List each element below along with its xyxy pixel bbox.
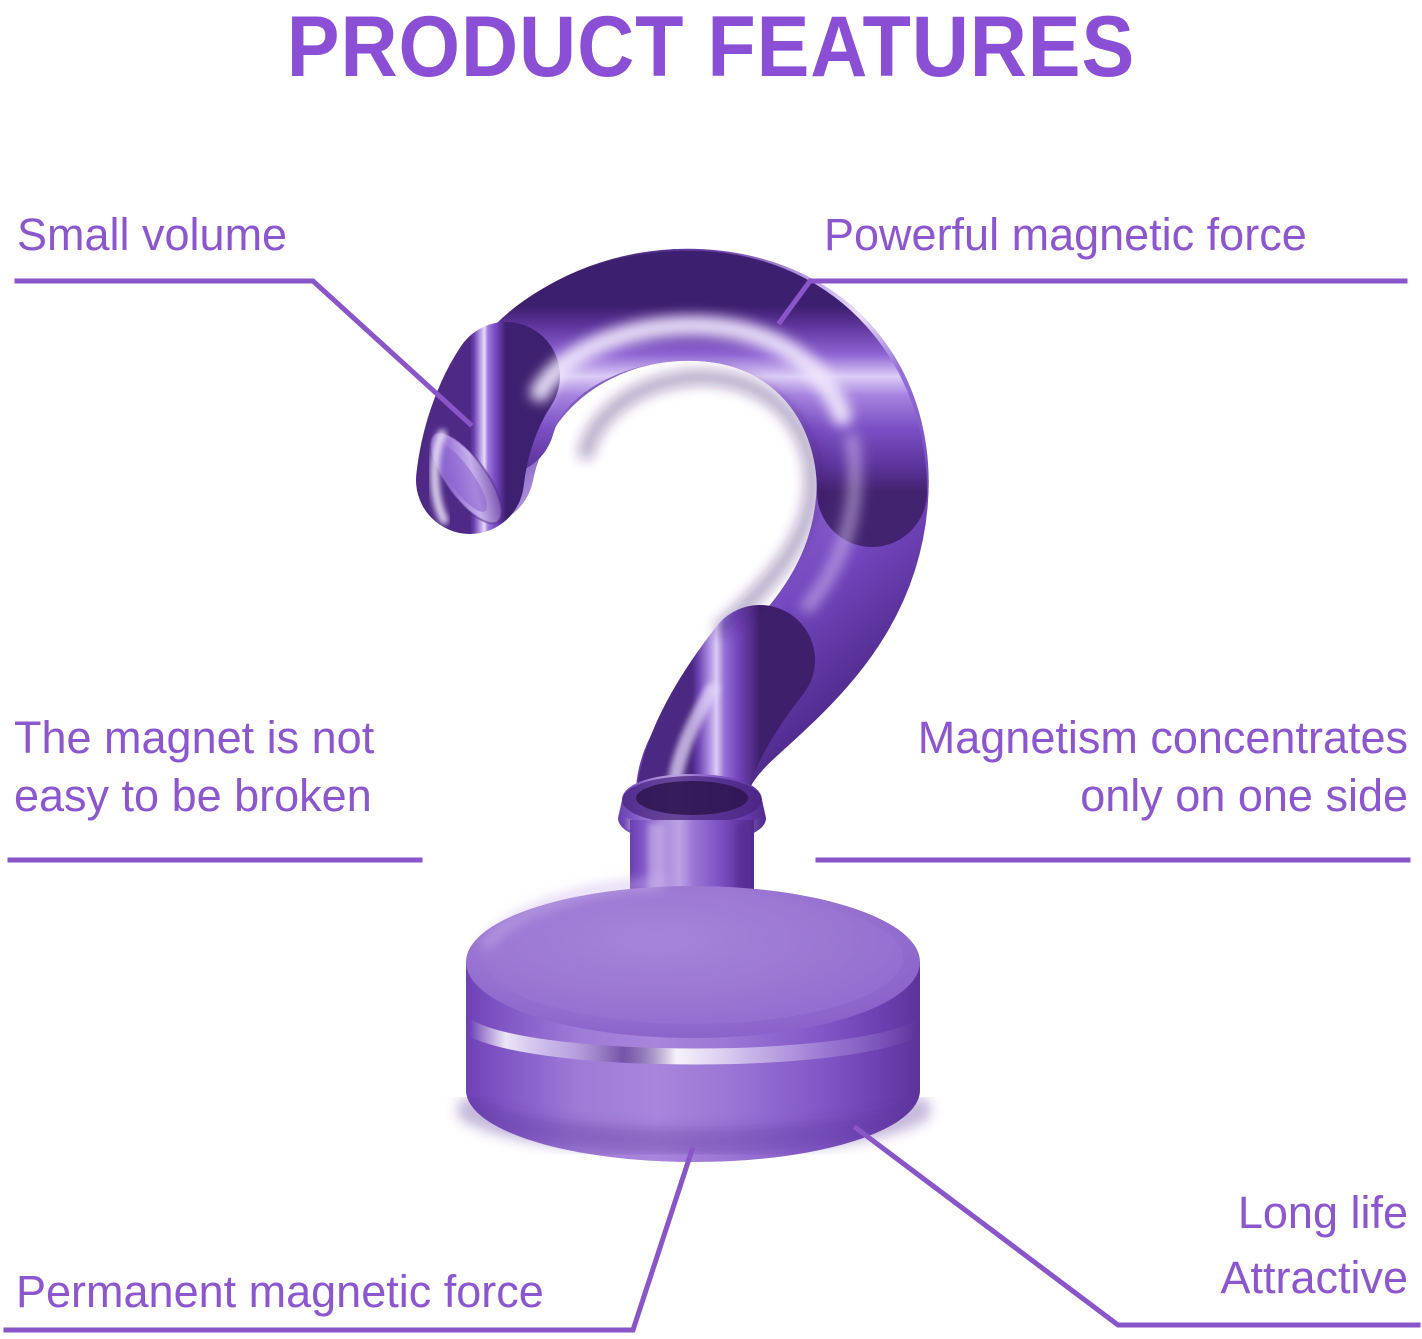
product-features-infographic: PRODUCT FEATURES [0,0,1422,1339]
callout-long-life-attractive: Long life Attractive [1000,1180,1408,1311]
callout-magnetism-one-side: Magnetism concentrates only on one side [808,709,1408,824]
callout-magnet-not-easy-broken: The magnet is not easy to be broken [14,709,474,824]
callout-permanent-magnetic-force: Permanent magnetic force [16,1263,656,1321]
magnetic-hook-illustration [0,0,1422,1339]
callout-small-volume: Small volume [17,206,437,264]
hook-curve [418,305,873,792]
callout-powerful-magnetic-force: Powerful magnetic force [824,206,1408,264]
magnet-disc [466,884,920,1162]
